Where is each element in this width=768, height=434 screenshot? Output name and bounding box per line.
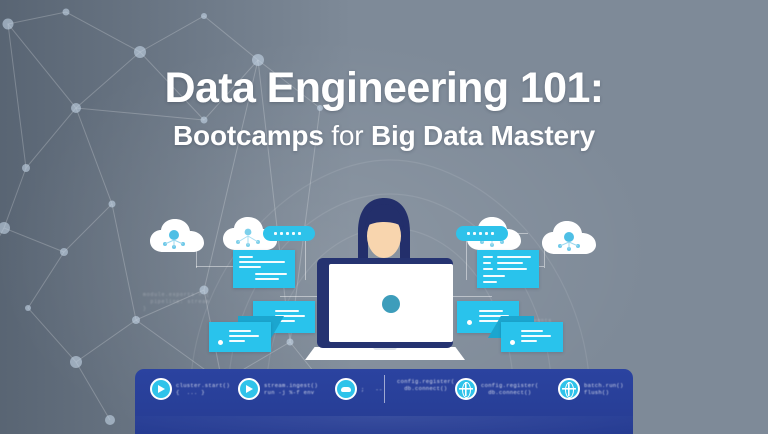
console-item: config.register( db.connect() bbox=[397, 378, 455, 392]
laptop-illustration bbox=[311, 258, 459, 370]
code-panel-left-bottom bbox=[209, 322, 271, 352]
console-item: cluster.start() { ... } bbox=[150, 378, 230, 400]
code-panel-right-bottom bbox=[501, 322, 563, 352]
laptop-screen bbox=[329, 264, 453, 342]
console-item: config.register( db.connect() bbox=[455, 378, 539, 400]
cloud-upload-right-outer-icon bbox=[541, 220, 597, 258]
play-icon bbox=[238, 378, 260, 400]
cloud-icon bbox=[335, 378, 357, 400]
banner-image: module.exports = { pipeline: stream } SE… bbox=[0, 0, 768, 434]
console-item-text: stream.ingest() run -j %-f env bbox=[264, 382, 318, 396]
console-item-text: cluster.start() { ... } bbox=[176, 382, 230, 396]
code-panel-left-top bbox=[233, 250, 295, 288]
status-pill-right bbox=[456, 226, 508, 241]
console-divider bbox=[384, 375, 385, 403]
cloud-upload-left-outer-icon bbox=[149, 218, 205, 256]
console-item-text: config.register( db.connect() bbox=[397, 378, 455, 392]
console-item-text: batch.run() flush() bbox=[584, 382, 624, 396]
console-item-text: config.register( db.connect() bbox=[481, 382, 539, 396]
console-item: batch.run() flush() bbox=[558, 378, 624, 400]
code-panel-right-top bbox=[477, 250, 539, 288]
console-item: stream.ingest() run -j %-f env bbox=[238, 378, 318, 400]
console-item-text: ; -- bbox=[361, 386, 383, 393]
screen-loading-dot bbox=[382, 295, 400, 313]
connector-line bbox=[305, 240, 306, 280]
globe-icon bbox=[558, 378, 580, 400]
console-bar-glow bbox=[135, 416, 633, 434]
play-icon bbox=[150, 378, 172, 400]
status-pill-left bbox=[263, 226, 315, 241]
laptop-lid bbox=[317, 258, 453, 348]
console-item: ; -- bbox=[335, 378, 383, 400]
globe-icon bbox=[455, 378, 477, 400]
code-console-bar: cluster.start() { ... } stream.ingest() … bbox=[135, 369, 633, 434]
